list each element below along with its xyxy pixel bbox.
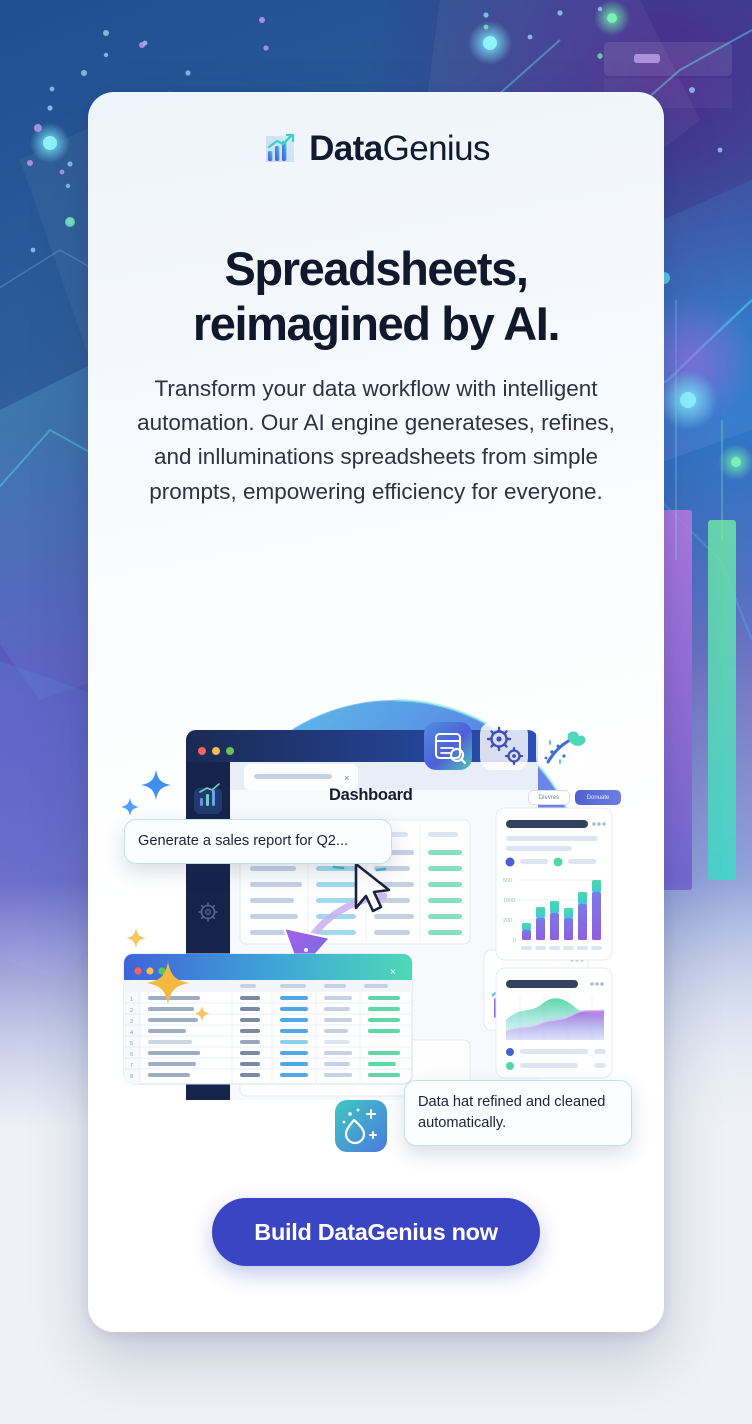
brand-name-bold: Data [309, 129, 382, 168]
magic-sparkle-icon [536, 722, 586, 770]
svg-text:500: 500 [503, 878, 512, 884]
document-search-icon [424, 722, 472, 770]
chip-dievres[interactable]: Dievres [528, 790, 570, 805]
page-title: Spreadsheets, reimagined by AI. [116, 242, 636, 352]
dashboard-title: Dashboard [329, 786, 412, 805]
svg-text:1: 1 [130, 997, 133, 1003]
chip-donuate[interactable]: Donuate [575, 790, 621, 805]
prompt-callout: Generate a sales report for Q2... [124, 819, 392, 864]
svg-text:2: 2 [130, 1008, 133, 1014]
area-chart-card [496, 968, 612, 1078]
brand-logo: DataGenius [88, 130, 664, 166]
svg-text:×: × [344, 773, 349, 783]
svg-text:200: 200 [503, 918, 512, 924]
cta-button[interactable]: Build DataGenius now [212, 1198, 540, 1266]
brand-name: DataGenius [309, 131, 490, 166]
headline-line-1: Spreadsheets, [224, 242, 527, 295]
svg-text:×: × [390, 967, 396, 978]
sparkle-gold-small [126, 928, 146, 948]
svg-text:3: 3 [130, 1019, 133, 1025]
product-illustration: × [88, 592, 664, 1192]
svg-text:4: 4 [130, 1030, 133, 1036]
gears-settings-icon [480, 722, 528, 770]
hero-card: DataGenius Spreadsheets, reimagined by A… [88, 92, 664, 1332]
svg-text:6: 6 [130, 1052, 133, 1058]
hero-description: Transform your data workflow with intell… [126, 372, 626, 509]
svg-text:1000: 1000 [503, 898, 515, 904]
svg-text:8: 8 [130, 1074, 133, 1080]
bar-chart-growth-icon [262, 130, 298, 166]
svg-text:7: 7 [130, 1063, 133, 1069]
sparkle-blue-small [121, 798, 139, 816]
headline-line-2: reimagined by AI. [193, 297, 559, 350]
brand-name-light: Genius [383, 129, 490, 168]
magic-clean-button [335, 1100, 387, 1152]
clean-callout: Data hat refined and cleaned automatical… [404, 1080, 632, 1146]
svg-text:5: 5 [130, 1041, 133, 1047]
stacked-bar-card: 50010002000 [496, 808, 612, 960]
svg-text:0: 0 [513, 938, 516, 944]
